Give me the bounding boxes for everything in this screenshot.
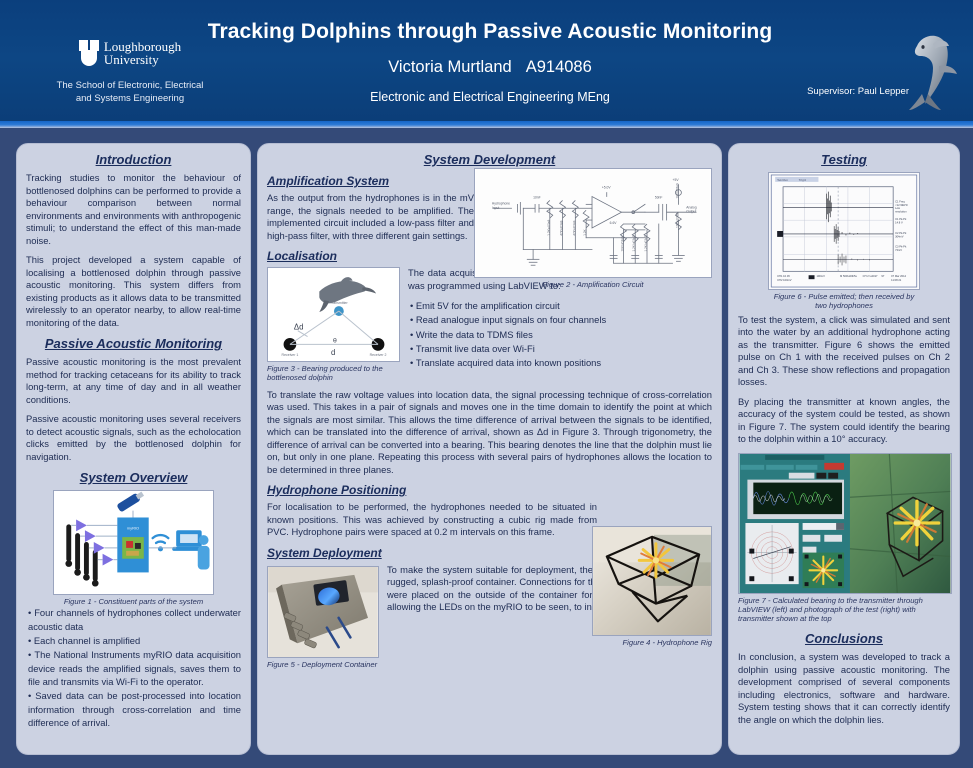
svg-text:10K\u03a9: 10K\u03a9 xyxy=(675,183,679,198)
supervisor-label: Supervisor: Paul Lepper xyxy=(807,86,909,97)
svg-text:97: 97 xyxy=(881,274,884,278)
svg-text:CH1 10.0V: CH1 10.0V xyxy=(777,274,790,278)
list-item: Read analogue input signals on four chan… xyxy=(410,313,712,326)
svg-text:1.2K\u03a9: 1.2K\u03a9 xyxy=(547,220,551,236)
figure-3-wrapper: Transmitter Receiver 1 Receiver 2 Δd θ d… xyxy=(267,267,400,383)
svg-text:+5V: +5V xyxy=(673,178,680,182)
hydrophone-rig-photo xyxy=(593,527,711,635)
svg-text:100mV: 100mV xyxy=(816,274,825,278)
list-item: The National Instruments myRIO data acqu… xyxy=(28,648,241,688)
right-column-panel: Testing Tek Run Trig'd xyxy=(728,143,960,755)
system-overview-diagram: myRIO xyxy=(54,491,213,594)
amplification-paragraph: As the output from the hydrophones is in… xyxy=(267,192,474,242)
figure-2-caption: Figure 2 - Amplification Circuit xyxy=(474,280,712,289)
list-item: Translate acquired data into known posit… xyxy=(410,356,712,369)
figure-5-wrapper: Figure 5 - Deployment Container xyxy=(267,566,379,669)
figure-6-wrapper: Tek Run Trig'd xyxy=(768,172,920,311)
pam-paragraph-1: Passive acoustic monitoring is the most … xyxy=(26,356,241,406)
figure-1-wrapper: myRIO xyxy=(53,490,214,606)
svg-text:47K\u03a9: 47K\u03a9 xyxy=(572,220,576,235)
labview-and-test-photo xyxy=(739,454,951,593)
svg-text:6.6V: 6.6V xyxy=(610,221,618,225)
svg-text:Tek Run: Tek Run xyxy=(777,178,788,182)
svg-text:CH 2 \u2197: CH 2 \u2197 xyxy=(863,274,878,278)
svg-text:1.2K\u03a9: 1.2K\u03a9 xyxy=(632,235,636,251)
introduction-paragraph-2: This project developed a system capable … xyxy=(26,254,241,329)
labview-bullets: Emit 5V for the amplification circuit Re… xyxy=(408,299,712,370)
testing-paragraph-1: To test the system, a click was simulate… xyxy=(738,314,950,389)
system-overview-heading: System Overview xyxy=(26,470,241,485)
system-overview-bullets: Four channels of hydrophones collect und… xyxy=(26,606,241,729)
student-id: A914086 xyxy=(526,58,592,76)
middle-column-panel: System Development xyxy=(257,143,722,755)
amplification-heading: Amplification System xyxy=(267,174,474,188)
list-item: Transmit live data over Wi-Fi xyxy=(410,342,712,355)
svg-text:1.2K\u03a9: 1.2K\u03a9 xyxy=(644,235,648,251)
figure-6-caption: Figure 6 - Pulse emitted; then received … xyxy=(768,292,920,311)
svg-text:10K\u03a9: 10K\u03a9 xyxy=(620,236,624,251)
svg-text:10K\u03a9: 10K\u03a9 xyxy=(675,213,679,228)
list-item: Four channels of hydrophones collect und… xyxy=(28,606,241,633)
svg-text:14.8 V: 14.8 V xyxy=(895,221,903,225)
svg-text:Output: Output xyxy=(686,210,696,214)
list-item: Saved data can be post-processed into lo… xyxy=(28,689,241,729)
svg-text:50nF: 50nF xyxy=(655,195,663,199)
figure-5-deployment-container-image xyxy=(267,566,379,658)
bearing-diagram: Transmitter Receiver 1 Receiver 2 Δd θ d xyxy=(268,268,399,361)
conclusions-heading: Conclusions xyxy=(738,631,950,646)
svg-text:Receiver 2: Receiver 2 xyxy=(370,353,387,357)
author-name: Victoria Murtland xyxy=(388,58,512,76)
conclusions-paragraph: In conclusion, a system was developed to… xyxy=(738,651,950,726)
loughborough-shield-icon xyxy=(79,40,99,66)
introduction-paragraph-1: Tracking studies to monitor the behaviou… xyxy=(26,172,241,247)
pam-paragraph-2: Passive acoustic monitoring uses several… xyxy=(26,413,241,463)
figure-4-wrapper: Figure 4 - Hydrophone Rig xyxy=(592,526,712,647)
poster-header: Loughborough University The School of El… xyxy=(0,0,973,128)
figure-7-caption: Figure 7 - Calculated bearing to the tra… xyxy=(738,596,952,624)
figure-1-system-overview-image: myRIO xyxy=(53,490,214,595)
figure-6-oscilloscope-image: Tek Run Trig'd xyxy=(768,172,920,290)
hydrophone-positioning-block: Hydrophone Positioning For localisation … xyxy=(267,483,597,560)
amplification-text-block: Amplification System As the output from … xyxy=(267,174,474,263)
svg-text:72mV: 72mV xyxy=(895,248,902,252)
figure-3-caption: Figure 3 - Bearing produced to the bottl… xyxy=(267,364,400,383)
svg-text:10nF: 10nF xyxy=(533,195,541,199)
svg-text:Transmitter: Transmitter xyxy=(330,301,348,305)
list-item: Emit 5V for the amplification circuit xyxy=(410,299,712,312)
svg-text:11:08:21: 11:08:21 xyxy=(891,278,902,282)
list-item: Each channel is amplified xyxy=(28,634,241,647)
svg-text:resolution: resolution xyxy=(895,210,907,214)
svg-text:M 500\u00b5s: M 500\u00b5s xyxy=(840,274,857,278)
svg-text:Receiver 1: Receiver 1 xyxy=(282,353,299,357)
svg-text:+5.0V: +5.0V xyxy=(602,186,612,190)
testing-paragraph-2: By placing the transmitter at known angl… xyxy=(738,396,950,446)
figure-3-bearing-image: Transmitter Receiver 1 Receiver 2 Δd θ d xyxy=(267,267,400,362)
oscilloscope-trace-diagram: Tek Run Trig'd xyxy=(769,173,919,289)
figure-4-caption: Figure 4 - Hydrophone Rig xyxy=(592,638,712,647)
passive-acoustic-monitoring-heading: Passive Acoustic Monitoring xyxy=(26,336,241,351)
svg-text:Input: Input xyxy=(492,206,499,210)
dolphin-icon xyxy=(903,26,967,112)
svg-text:Trig'd: Trig'd xyxy=(799,178,807,182)
svg-text:myRIO: myRIO xyxy=(127,525,139,530)
course-title: Electronic and Electrical Engineering ME… xyxy=(180,90,800,104)
figure-2-amplification-circuit-image: Hydrophone Input 10nF +5.0V 6.6V 50nF An… xyxy=(474,168,712,278)
system-deployment-heading: System Deployment xyxy=(267,546,597,560)
university-name: Loughborough University xyxy=(104,40,181,67)
localisation-heading: Localisation xyxy=(267,249,474,263)
author-line: Victoria MurtlandA914086 xyxy=(180,58,800,77)
university-name-line2: University xyxy=(104,53,181,66)
svg-text:47K\u03a9: 47K\u03a9 xyxy=(560,220,564,235)
svg-text:θ: θ xyxy=(333,337,337,344)
svg-text:Δd: Δd xyxy=(294,323,304,332)
page-title: Tracking Dolphins through Passive Acoust… xyxy=(180,20,800,44)
svg-text:Hydrophone: Hydrophone xyxy=(492,201,510,205)
deployment-container-photo xyxy=(268,567,378,657)
svg-text:1.2K: 1.2K xyxy=(583,228,587,235)
svg-text:CH2 100mV: CH2 100mV xyxy=(777,278,792,282)
left-column-panel: Introduction Tracking studies to monitor… xyxy=(16,143,251,755)
figure-1-caption: Figure 1 - Constituent parts of the syst… xyxy=(53,597,214,606)
localisation-paragraph: To translate the raw voltage values into… xyxy=(267,389,712,477)
svg-text:Analog: Analog xyxy=(686,205,697,209)
list-item: Write the data to TDMS files xyxy=(410,328,712,341)
testing-heading: Testing xyxy=(738,152,950,167)
system-development-heading: System Development xyxy=(267,152,712,167)
figure-2-wrapper: Hydrophone Input 10nF +5.0V 6.6V 50nF An… xyxy=(474,168,712,289)
svg-text:304mV: 304mV xyxy=(895,234,904,238)
figure-4-hydrophone-rig-image xyxy=(592,526,712,636)
svg-text:d: d xyxy=(331,348,335,357)
introduction-heading: Introduction xyxy=(26,152,241,167)
university-name-line1: Loughborough xyxy=(104,40,181,53)
hydrophone-positioning-paragraph: For localisation to be performed, the hy… xyxy=(267,501,597,539)
svg-text:07 Mar 2014: 07 Mar 2014 xyxy=(891,274,906,278)
figure-7-labview-image xyxy=(738,453,952,594)
amplification-circuit-diagram: Hydrophone Input 10nF +5.0V 6.6V 50nF An… xyxy=(475,169,711,277)
figure-7-wrapper: Figure 7 - Calculated bearing to the tra… xyxy=(738,453,952,624)
figure-5-caption: Figure 5 - Deployment Container xyxy=(267,660,379,669)
hydrophone-positioning-heading: Hydrophone Positioning xyxy=(267,483,597,497)
